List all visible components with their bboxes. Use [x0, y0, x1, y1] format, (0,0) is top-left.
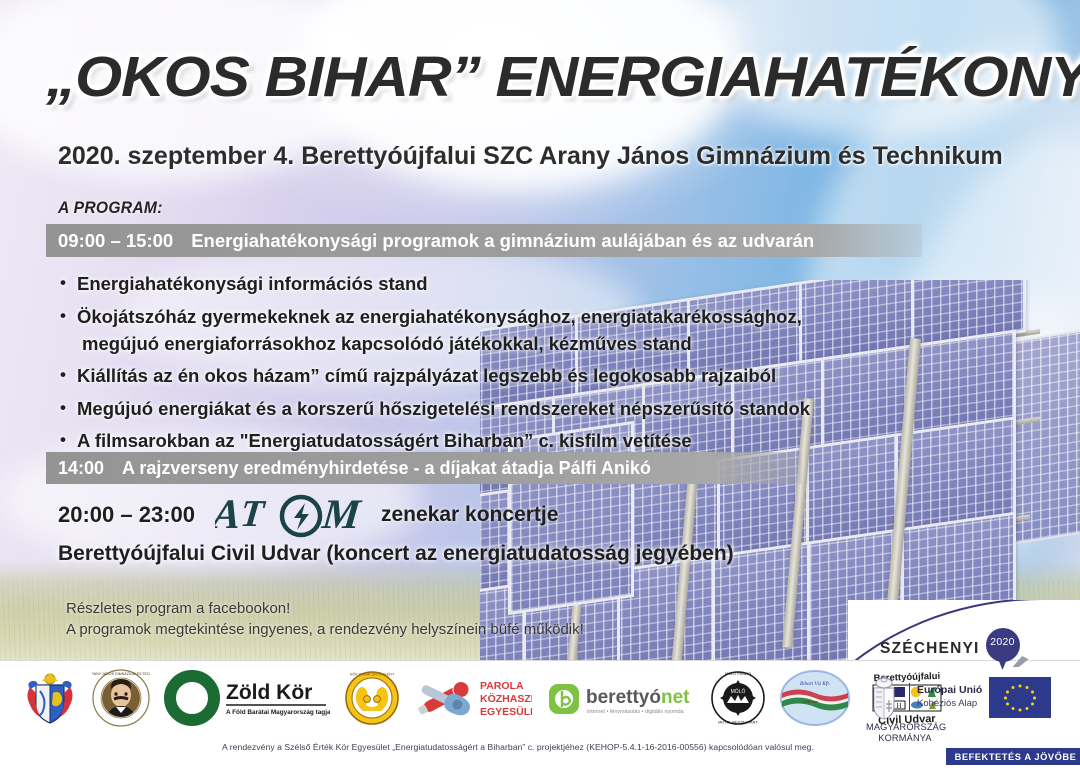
program-section-label: A PROGRAM:: [58, 198, 163, 218]
svg-text:EGYESÜLET: EGYESÜLET: [480, 705, 532, 718]
eu-funding-text: Európai Unió Kohéziós Alap: [909, 683, 982, 711]
logo-bszc-arany-janos-gimnazium: BSZC ARANY JÁNOS GIMNÁZIUM ÉS TECHNIKUM: [92, 669, 150, 727]
list-item: Ökojátszóház gyermekeknek az energiahaté…: [58, 303, 818, 357]
poster-root: „OKOS BIHAR” ENERGIAHATÉKONYSÁGI NAP 202…: [0, 0, 1080, 768]
eu-funding-block: Európai Unió Kohéziós Alap M: [866, 674, 1080, 765]
eu-line-1: Európai Unió: [917, 683, 982, 697]
logo-bihari-nok-label: NŐK BIHAR ÉRTÉKEÉRT: [350, 672, 395, 677]
investment-slogan-bar: BEFEKTETÉS A JÖVŐBE: [946, 748, 1080, 765]
atom-band-logo-icon: A T M: [215, 492, 367, 538]
list-item: A filmsarokban az "Energiatudatosságért …: [58, 427, 818, 454]
szechenyi-wordmark: SZÉCHENYI: [880, 640, 980, 658]
note-facebook: Részletes program a facebookon!: [66, 598, 584, 619]
list-item-line1: Megújuó energiákat és a korszerű hőszige…: [77, 398, 810, 419]
logo-bszc-arany-janos-gimnazium-label: BSZC ARANY JÁNOS GIMNÁZIUM ÉS TECHNIKUM: [92, 671, 150, 676]
concert-row: 20:00 – 23:00 A T M zenekar koncertje: [58, 492, 558, 538]
logo-berettyoujfalu-coat-of-arms: [22, 669, 78, 727]
svg-text:T: T: [238, 493, 267, 535]
list-item-line1: A filmsarokban az "Energiatudatosságért …: [77, 430, 692, 451]
concert-venue: Berettyóújfalui Civil Udvar (koncert az …: [58, 542, 734, 566]
logo-berettyonet-sublabel: internet • fénymásolás • digitális nyomd…: [587, 709, 684, 715]
atom-lightning-circle-icon: [282, 497, 320, 535]
hungary-coat-of-arms-icon: [866, 674, 902, 720]
schedule-bar-morning: 09:00 – 15:00 Energiahatékonysági progra…: [46, 224, 922, 257]
schedule-text-afternoon: A rajzverseny eredményhirdetése - a díja…: [104, 458, 651, 479]
concert-time: 20:00 – 23:00: [58, 502, 195, 528]
logo-parola-kozhasznu-egyesulet: PAROLA KÖZHASZNÚ EGYESÜLET: [414, 669, 532, 727]
eu-funding-row: Európai Unió Kohéziós Alap: [866, 674, 1080, 720]
concert-suffix: zenekar koncertje: [381, 503, 558, 527]
szechenyi-pin-icon: 2020: [986, 628, 1020, 670]
program-bullet-list: Energiahatékonysági információs stand Ök…: [58, 270, 818, 460]
logo-bihari-nok-egyesulete: NŐK BIHAR ÉRTÉKEÉRT: [344, 669, 400, 727]
svg-text:M: M: [319, 492, 364, 538]
schedule-bar-afternoon: 14:00 A rajzverseny eredményhirdetése - …: [46, 452, 802, 484]
schedule-text-morning: Energiahatékonysági programok a gimnáziu…: [173, 230, 814, 252]
poster-subtitle: 2020. szeptember 4. Berettyóújfalui SZC …: [58, 142, 1003, 171]
szechenyi-year: 2020: [986, 636, 1020, 648]
note-free-entry: A programok megtekintése ingyenes, a ren…: [66, 619, 584, 640]
svg-text:KÖZHASZNÚ: KÖZHASZNÚ: [480, 692, 532, 705]
logo-zold-kor-sublabel: A Föld Barátai Magyarország tagja: [226, 709, 330, 716]
list-item: Energiahatékonysági információs stand: [58, 270, 818, 297]
svg-text:Bihari Víz Kft.: Bihari Víz Kft.: [800, 680, 830, 687]
svg-text:MÓLÓ: MÓLÓ: [731, 688, 746, 695]
notes-block: Részletes program a facebookon! A progra…: [66, 598, 584, 640]
partner-logo-strip: BSZC ARANY JÁNOS GIMNÁZIUM ÉS TECHNIKUM …: [22, 664, 822, 732]
logo-bihari-viz-kft: Bihari Víz Kft. 1992 óta: [780, 669, 850, 727]
list-item-line1: Ökojátszóház gyermekeknek az energiahaté…: [77, 306, 802, 327]
list-item-line1: Kiállítás az én okos házam” című rajzpál…: [77, 365, 776, 386]
szechenyi-wordmark-row: SZÉCHENYI 2020: [880, 628, 1020, 670]
poster-title: „OKOS BIHAR” ENERGIAHATÉKONYSÁGI NAP: [46, 48, 1080, 106]
eu-line-2: Kohéziós Alap: [917, 697, 982, 711]
schedule-time-afternoon: 14:00: [46, 458, 104, 479]
footer-disclaimer: A rendezvény a Szélső Érték Kör Egyesüle…: [222, 742, 814, 752]
logo-berettyonet: berettyónet internet • fénymásolás • dig…: [546, 672, 696, 724]
eu-flag-icon: [989, 677, 1051, 718]
schedule-time-morning: 09:00 – 15:00: [46, 230, 173, 252]
logo-zold-kor-label: Zöld Kör: [226, 681, 312, 704]
ministry-label: MAGYARORSZÁG KORMÁNYA: [866, 722, 944, 744]
list-item: Megújuó energiákat és a korszerű hőszige…: [58, 395, 818, 422]
svg-text:1992 óta: 1992 óta: [802, 699, 818, 704]
logo-molo-panzio-motel-restaurant: MÓLÓ MÓLÓ PANZIÓ MOTEL RESTAURANT: [710, 669, 766, 727]
svg-text:MÓLÓ PANZIÓ: MÓLÓ PANZIÓ: [725, 671, 751, 676]
ministry-line-1: MAGYARORSZÁG: [866, 722, 946, 732]
list-item-line2: megújuó energiaforrásokhoz kapcsolódó já…: [77, 330, 818, 357]
list-item: Kiállítás az én okos házam” című rajzpál…: [58, 362, 818, 389]
szechenyi-2020-block: SZÉCHENYI 2020: [858, 612, 1080, 762]
svg-text:berettyónet: berettyónet: [586, 687, 690, 708]
svg-text:PAROLA: PAROLA: [480, 680, 524, 692]
svg-text:MOTEL RESTAURANT: MOTEL RESTAURANT: [718, 721, 758, 725]
list-item-line1: Energiahatékonysági információs stand: [77, 273, 428, 294]
ministry-line-2: KORMÁNYA: [878, 733, 932, 743]
logo-zold-kor: Zöld Kör A Föld Barátai Magyarország tag…: [164, 669, 330, 727]
